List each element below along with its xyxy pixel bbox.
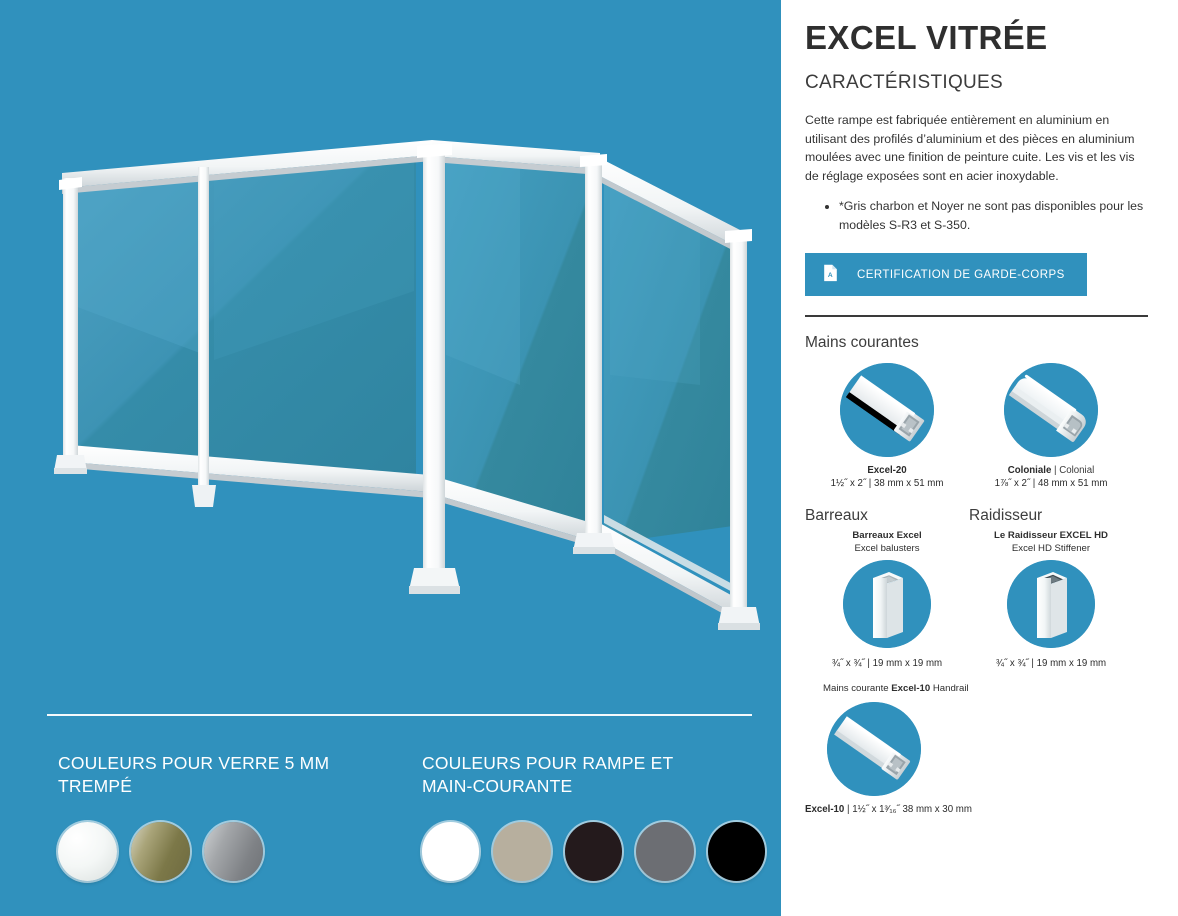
section-divider xyxy=(805,315,1148,317)
swatch-glass-gris[interactable] xyxy=(204,822,263,881)
product-raidisseur-excel-hd[interactable]: Le Raidisseur EXCEL HD Excel HD Stiffene… xyxy=(969,530,1133,670)
svg-text:A: A xyxy=(828,272,833,279)
coloniale-alt-name: Colonial xyxy=(1059,465,1094,476)
excel-10-grid: Mains courante Excel-10 Handrail xyxy=(805,683,1150,816)
coloniale-name: Coloniale xyxy=(1008,465,1052,476)
color-group-rail: COULEURS POUR RAMPE ET MAIN-COURANTE xyxy=(365,752,765,902)
color-group-glass: COULEURS POUR VERRE 5 MM TREMPÉ xyxy=(0,752,365,902)
swatch-rail-sable[interactable] xyxy=(493,822,550,881)
swatch-glass-bronze[interactable] xyxy=(131,822,190,881)
mains-courantes-grid: Excel-20 1½˝ x 2˝ | 38 mm x 51 mm xyxy=(805,363,1150,490)
raidisseur-dimensions: ¾˝ x ¾˝ | 19 mm x 19 mm xyxy=(969,657,1133,670)
raidisseur-caption: Le Raidisseur EXCEL HD Excel HD Stiffene… xyxy=(969,530,1133,555)
right-info-panel: EXCEL VITRÉE CARACTÉRISTIQUES Cette ramp… xyxy=(781,0,1178,916)
raidisseur-image xyxy=(1007,560,1095,648)
availability-notes: *Gris charbon et Noyer ne sont pas dispo… xyxy=(805,197,1150,234)
coloniale-dimensions: 1⅞˝ x 2˝ | 48 mm x 51 mm xyxy=(969,477,1133,490)
raidisseur-name-en: Excel HD Stiffener xyxy=(1012,543,1090,554)
sub-section-headings: Barreaux Raidisseur xyxy=(805,506,1150,526)
barreaux-raidisseur-grid: Barreaux Excel Excel balusters xyxy=(805,530,1150,670)
hero-railing-illustration xyxy=(0,55,781,655)
excel-10-caption: Mains courante Excel-10 Handrail xyxy=(805,683,985,696)
certification-button-label: CERTIFICATION DE GARDE-CORPS xyxy=(857,269,1065,281)
barreaux-image xyxy=(843,560,931,648)
heading-mains-courantes: Mains courantes xyxy=(805,333,1150,353)
excel-20-name: Excel-20 xyxy=(867,465,906,476)
excel-20-caption: Excel-20 xyxy=(805,464,969,477)
product-excel-20[interactable]: Excel-20 1½˝ x 2˝ | 38 mm x 51 mm xyxy=(805,363,969,490)
page-title: EXCEL VITRÉE xyxy=(805,18,1150,58)
swatch-rail-blanc[interactable] xyxy=(422,822,479,881)
swatch-rail-noyer[interactable] xyxy=(565,822,622,881)
excel-10-caption-suffix: Handrail xyxy=(930,683,968,694)
swatch-row-glass xyxy=(58,822,365,881)
excel-10-caption-prefix: Mains courante xyxy=(823,683,891,694)
raidisseur-name-fr: Le Raidisseur EXCEL HD xyxy=(994,530,1108,541)
product-barreaux-excel[interactable]: Barreaux Excel Excel balusters xyxy=(805,530,969,670)
heading-barreaux: Barreaux xyxy=(805,506,969,526)
color-options: COULEURS POUR VERRE 5 MM TREMPÉ COULEURS… xyxy=(0,752,781,902)
color-group-glass-title: COULEURS POUR VERRE 5 MM TREMPÉ xyxy=(58,752,365,798)
swatch-rail-gris-charbon[interactable] xyxy=(636,822,693,881)
note-item: *Gris charbon et Noyer ne sont pas dispo… xyxy=(839,197,1150,234)
left-panel-divider xyxy=(47,714,752,716)
product-description: Cette rampe est fabriquée entièrement en… xyxy=(805,111,1149,185)
swatch-glass-clair[interactable] xyxy=(58,822,117,881)
barreaux-caption: Barreaux Excel Excel balusters xyxy=(805,530,969,555)
product-coloniale[interactable]: Coloniale | Colonial 1⅞˝ x 2˝ | 48 mm x … xyxy=(969,363,1133,490)
coloniale-image xyxy=(1004,363,1098,457)
product-excel-10[interactable]: Mains courante Excel-10 Handrail xyxy=(805,683,985,816)
excel-10-caption-name: Excel-10 xyxy=(891,683,930,694)
excel-10-dimension-rest: | 1½˝ x 1³⁄₁₆˝ 38 mm x 30 mm xyxy=(844,804,972,815)
certification-button[interactable]: A CERTIFICATION DE GARDE-CORPS xyxy=(805,253,1087,296)
coloniale-caption: Coloniale | Colonial xyxy=(969,464,1133,477)
pdf-document-icon: A xyxy=(823,264,838,285)
barreaux-name-en: Excel balusters xyxy=(854,543,919,554)
excel-10-dimensions: Excel-10 | 1½˝ x 1³⁄₁₆˝ 38 mm x 30 mm xyxy=(805,803,985,816)
excel-10-image xyxy=(827,702,921,796)
product-spec-sheet: COULEURS POUR VERRE 5 MM TREMPÉ COULEURS… xyxy=(0,0,1178,916)
excel-20-image xyxy=(840,363,934,457)
barreaux-dimensions: ¾˝ x ¾˝ | 19 mm x 19 mm xyxy=(805,657,969,670)
section-subtitle: CARACTÉRISTIQUES xyxy=(805,71,1150,95)
left-blue-panel: COULEURS POUR VERRE 5 MM TREMPÉ COULEURS… xyxy=(0,0,781,916)
swatch-rail-noir[interactable] xyxy=(708,822,765,881)
excel-10-dimension-name: Excel-10 xyxy=(805,804,844,815)
color-group-rail-title: COULEURS POUR RAMPE ET MAIN-COURANTE xyxy=(422,752,722,798)
swatch-row-rail xyxy=(422,822,765,881)
barreaux-name-fr: Barreaux Excel xyxy=(852,530,921,541)
excel-20-dimensions: 1½˝ x 2˝ | 38 mm x 51 mm xyxy=(805,477,969,490)
heading-raidisseur: Raidisseur xyxy=(969,506,1042,526)
